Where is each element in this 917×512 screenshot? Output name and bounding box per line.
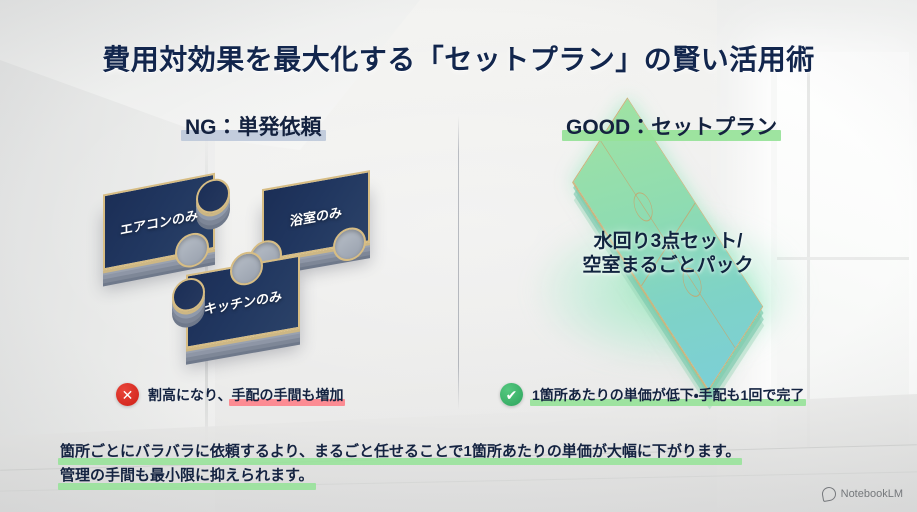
result-good-text-marked: 1箇所あたりの単価が低下・手配も1回で完了 <box>532 385 804 405</box>
assembled-set-block: 水回り3点セット/ 空室まるごとパック <box>520 160 816 330</box>
column-heading-good: GOOD：セットプラン <box>560 110 783 143</box>
result-good-text: 1箇所あたりの単価が低下・手配も1回で完了 <box>532 385 804 405</box>
result-row-ng: ✕ 割高になり、手配の手間も増加 <box>116 383 343 406</box>
notebooklm-watermark-label: NotebookLM <box>841 488 903 500</box>
summary-line-2: 管理の手間も最小限に抑えられます。 <box>60 464 860 488</box>
assembled-set-label: 水回り3点セット/ 空室まるごとパック <box>520 230 816 279</box>
notebooklm-logo-icon <box>821 486 837 502</box>
summary-line-1: 箇所ごとにバラバラに依頼するより、まるごと任せることで1箇所あたりの単価が大幅に… <box>60 440 860 464</box>
summary-line-1-text: 箇所ごとにバラバラに依頼するより、まるごと任せることで1箇所あたりの単価が大幅に… <box>60 440 740 464</box>
column-heading-ng: NG：単発依頼 <box>179 110 328 143</box>
check-circle-icon: ✔ <box>500 383 523 406</box>
summary-line-2-text: 管理の手間も最小限に抑えられます。 <box>60 464 314 488</box>
notebooklm-watermark: NotebookLM <box>822 487 903 501</box>
page-title: 費用対効果を最大化する「セットプラン」の賢い活用術 <box>0 38 917 78</box>
result-ng-text-plain: 割高になり、 <box>148 387 231 403</box>
result-ng-text-marked: 手配の手間も増加 <box>231 385 343 405</box>
column-divider <box>458 116 459 410</box>
assembled-set-label-line1: 水回り3点セット/ <box>594 231 743 252</box>
x-circle-icon: ✕ <box>116 383 139 406</box>
slide-canvas: 費用対効果を最大化する「セットプラン」の賢い活用術 NG：単発依頼 GOOD：セ… <box>0 0 917 512</box>
summary-text: 箇所ごとにバラバラに依頼するより、まるごと任せることで1箇所あたりの単価が大幅に… <box>60 440 860 489</box>
column-heading-good-label: GOOD：セットプラン <box>566 111 777 141</box>
result-row-good: ✔ 1箇所あたりの単価が低下・手配も1回で完了 <box>500 383 804 406</box>
column-heading-ng-label: NG：単発依頼 <box>185 111 322 141</box>
assembled-set-label-line2: 空室まるごとパック <box>582 255 753 276</box>
result-ng-text: 割高になり、手配の手間も増加 <box>148 385 343 405</box>
